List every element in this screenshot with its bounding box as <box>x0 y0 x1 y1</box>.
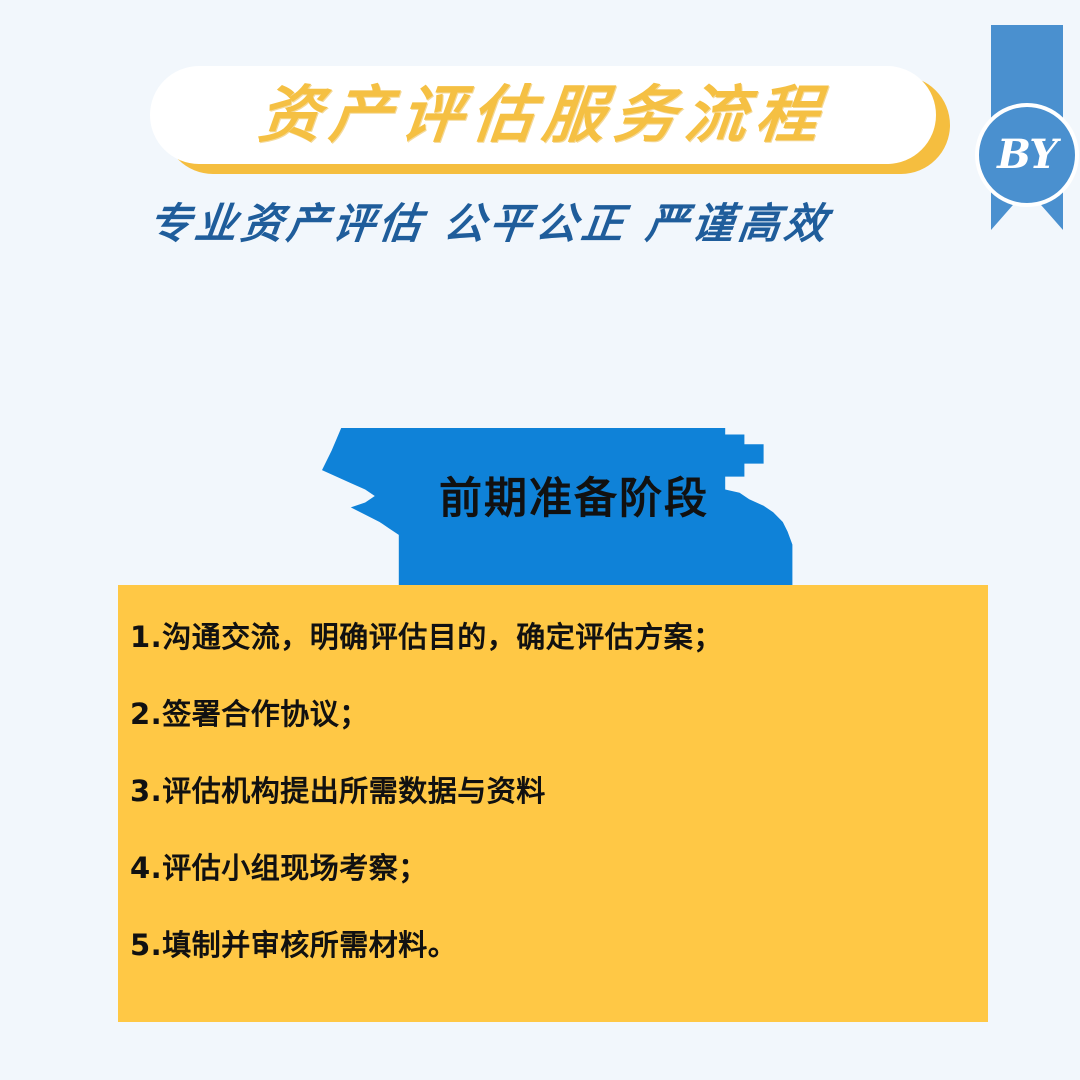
list-item: 3.评估机构提出所需数据与资料 <box>130 777 948 806</box>
list-item: 5.填制并审核所需材料。 <box>130 931 948 960</box>
steps-content-box: 1.沟通交流，明确评估目的，确定评估方案； 2.签署合作协议； 3.评估机构提出… <box>118 585 988 1022</box>
page-title: 资产评估服务流程 <box>256 84 831 146</box>
steps-list: 1.沟通交流，明确评估目的，确定评估方案； 2.签署合作协议； 3.评估机构提出… <box>130 623 948 960</box>
stage-banner: 前期准备阶段 <box>322 428 802 590</box>
title-pill: 资产评估服务流程 <box>150 66 936 164</box>
brand-ribbon-badge: BY <box>991 25 1063 230</box>
badge-circle-icon: BY <box>975 103 1079 207</box>
list-item: 2.签署合作协议； <box>130 700 948 729</box>
title-banner: 资产评估服务流程 <box>150 66 950 174</box>
list-item: 1.沟通交流，明确评估目的，确定评估方案； <box>130 623 948 652</box>
badge-label: BY <box>997 135 1057 175</box>
poster-canvas: 资产评估服务流程 BY 专业资产评估 公平公正 严谨高效 前期准备阶段 1.沟通… <box>0 0 1080 1080</box>
list-item: 4.评估小组现场考察； <box>130 854 948 883</box>
page-subtitle: 专业资产评估 公平公正 严谨高效 <box>0 190 984 251</box>
stage-title: 前期准备阶段 <box>322 478 802 521</box>
